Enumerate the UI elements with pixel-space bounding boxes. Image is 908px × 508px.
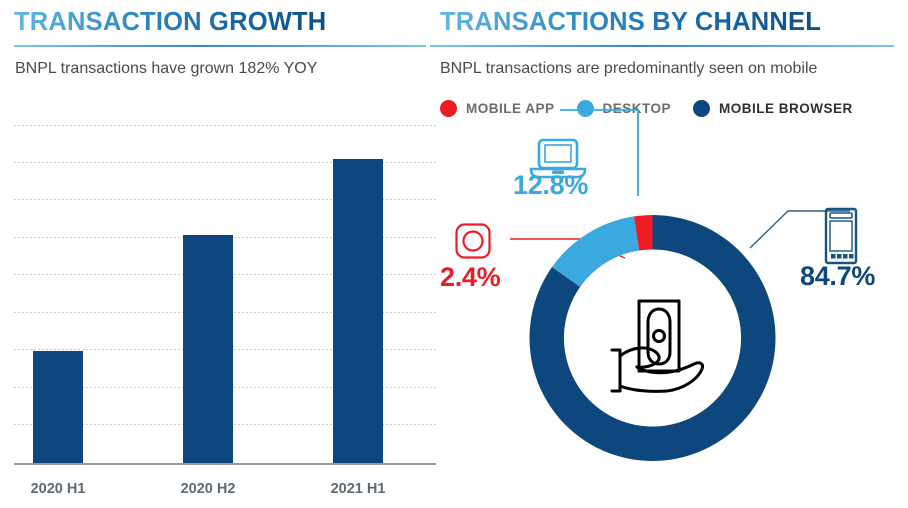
- hand-holding-money-icon: [612, 301, 703, 391]
- bar-2021-h1[interactable]: [333, 159, 383, 463]
- app-square-icon: [454, 222, 492, 260]
- callout-value-mobile-app: 2.4%: [440, 262, 500, 293]
- transaction-growth-panel: TRANSACTION GROWTH BNPL transactions hav…: [0, 0, 430, 508]
- x-tick-label-2021-h1: 2021 H1: [308, 481, 408, 497]
- bar-chart: 2020 H1 2020 H2 2021 H1: [0, 0, 430, 508]
- transactions-by-channel-panel: TRANSACTIONS BY CHANNEL BNPL transaction…: [430, 0, 908, 508]
- x-tick-label-2020-h2: 2020 H2: [158, 481, 258, 497]
- smartphone-icon: [822, 207, 860, 265]
- x-axis-line: [14, 463, 436, 465]
- bar-2020-h2[interactable]: [183, 235, 233, 463]
- callout-value-desktop: 12.8%: [513, 170, 588, 201]
- x-tick-label-2020-h1: 2020 H1: [8, 481, 108, 497]
- gridline: [14, 125, 436, 126]
- donut-chart: 12.8% 2.4% 84.7%: [430, 0, 908, 508]
- callout-value-mobile-browser: 84.7%: [800, 261, 875, 292]
- bar-2020-h1[interactable]: [33, 351, 83, 463]
- infographic-root: TRANSACTION GROWTH BNPL transactions hav…: [0, 0, 908, 508]
